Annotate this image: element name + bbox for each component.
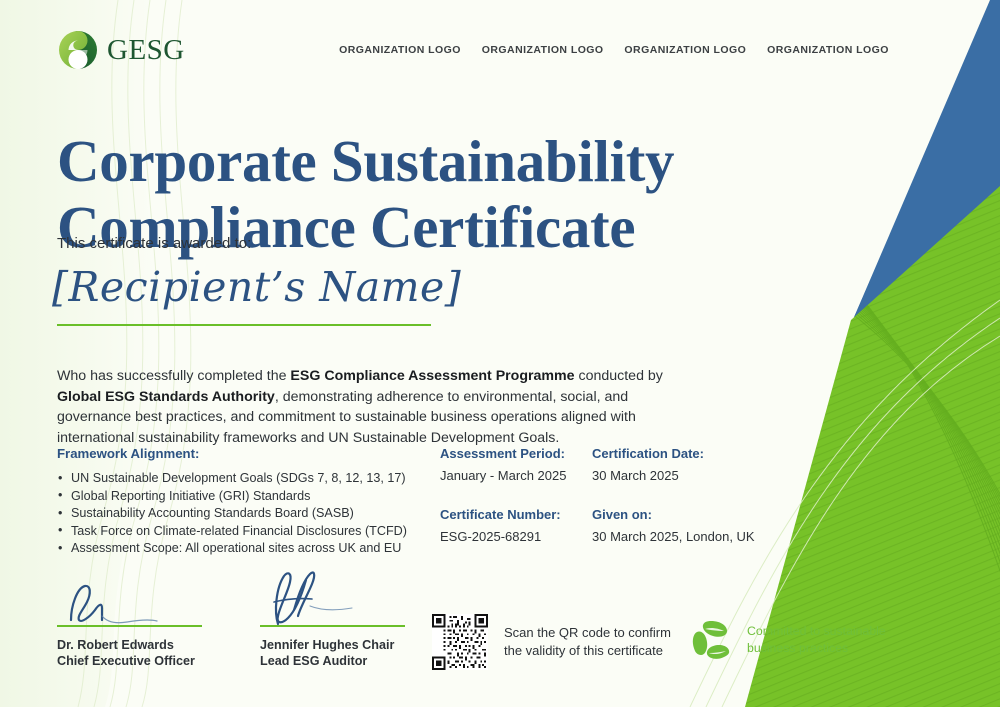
framework-alignment-block: Framework Alignment: UN Sustainable Deve… <box>57 446 427 558</box>
eco-text-line-1: Committed to sustainable <box>747 623 886 640</box>
org-logo-placeholder-2: ORGANIZATION LOGO <box>479 43 607 57</box>
qr-text-line-2: the validity of this certificate <box>504 642 671 660</box>
sustainability-badge-text: Committed to sustainable business practi… <box>747 623 886 657</box>
org-logo-placeholder-1: ORGANIZATION LOGO <box>336 43 464 57</box>
detail-value: January - March 2025 <box>440 468 592 483</box>
signature-name: Dr. Robert Edwards <box>57 637 202 653</box>
title-line-1: Corporate Sustainability <box>57 128 757 194</box>
detail-value: ESG-2025-68291 <box>440 529 592 544</box>
certificate-page: GESG ORGANIZATION LOGO ORGANIZATION LOGO… <box>0 0 1000 707</box>
signature-row: Dr. Robert Edwards Chief Executive Offic… <box>57 578 405 669</box>
signature-block-ceo: Dr. Robert Edwards Chief Executive Offic… <box>57 578 202 669</box>
detail-certificate-number: Certificate Number: ESG-2025-68291 <box>440 507 592 544</box>
list-item: UN Sustainable Development Goals (SDGs 7… <box>57 470 427 488</box>
recipient-name: [Recipient’s Name] <box>52 263 472 311</box>
detail-assessment-period: Assessment Period: January - March 2025 <box>440 446 592 483</box>
signature-block-auditor: Jennifer Hughes Chair Lead ESG Auditor <box>260 578 405 669</box>
signature-role: Lead ESG Auditor <box>260 653 405 669</box>
signature-name: Jennifer Hughes Chair <box>260 637 405 653</box>
recipient-underline <box>57 324 431 326</box>
list-item: Global Reporting Initiative (GRI) Standa… <box>57 488 427 506</box>
certificate-details: Assessment Period: January - March 2025 … <box>440 446 800 544</box>
body-part-2: conducted by <box>575 368 663 384</box>
signature-mark-jennifer-hughes <box>260 578 405 624</box>
list-item: Assessment Scope: All operational sites … <box>57 540 427 558</box>
detail-given-on: Given on: 30 March 2025, London, UK <box>592 507 800 544</box>
brand-name: GESG <box>107 34 185 67</box>
detail-value: 30 March 2025, London, UK <box>592 529 800 544</box>
qr-text-line-1: Scan the QR code to confirm <box>504 624 671 642</box>
body-bold-authority: Global ESG Standards Authority <box>57 389 275 405</box>
organization-logos: ORGANIZATION LOGO ORGANIZATION LOGO ORGA… <box>336 43 938 57</box>
detail-label: Given on: <box>592 507 800 522</box>
body-part-1: Who has successfully completed the <box>57 368 290 384</box>
detail-label: Certification Date: <box>592 446 800 461</box>
framework-list: UN Sustainable Development Goals (SDGs 7… <box>57 470 427 558</box>
body-bold-programme: ESG Compliance Assessment Programme <box>290 368 574 384</box>
sustainability-badge: Committed to sustainable business practi… <box>688 617 886 663</box>
certificate-body-text: Who has successfully completed the ESG C… <box>57 366 669 448</box>
framework-alignment-heading: Framework Alignment: <box>57 446 427 461</box>
qr-code-icon[interactable] <box>432 614 488 670</box>
list-item: Task Force on Climate-related Financial … <box>57 523 427 541</box>
detail-label: Assessment Period: <box>440 446 592 461</box>
gesg-swirl-logo-icon <box>58 30 98 70</box>
detail-value: 30 March 2025 <box>592 468 800 483</box>
three-leaves-icon <box>688 617 734 663</box>
org-logo-placeholder-4: ORGANIZATION LOGO <box>764 43 892 57</box>
qr-verification-block: Scan the QR code to confirm the validity… <box>432 614 671 670</box>
brand-lockup: GESG <box>58 30 336 70</box>
detail-label: Certificate Number: <box>440 507 592 522</box>
list-item: Sustainability Accounting Standards Boar… <box>57 505 427 523</box>
qr-instruction-text: Scan the QR code to confirm the validity… <box>504 624 671 660</box>
detail-certification-date: Certification Date: 30 March 2025 <box>592 446 800 483</box>
signature-role: Chief Executive Officer <box>57 653 202 669</box>
awarded-to-label: This certificate is awarded to: <box>57 235 251 252</box>
signature-mark-robert-edwards <box>57 578 202 624</box>
eco-text-line-2: business practices <box>747 640 886 657</box>
certificate-header: GESG ORGANIZATION LOGO ORGANIZATION LOGO… <box>58 22 938 78</box>
org-logo-placeholder-3: ORGANIZATION LOGO <box>621 43 749 57</box>
